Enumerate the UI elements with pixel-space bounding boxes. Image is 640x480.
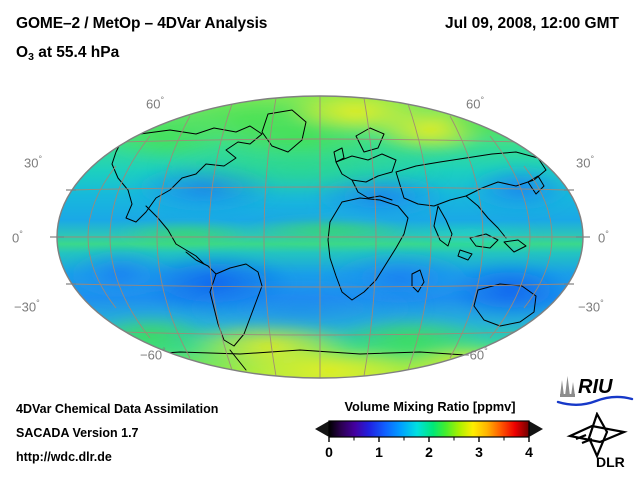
lat-label-30n-left: 30° [24,154,42,170]
colorbar-tick-3: 3 [475,444,483,460]
page-title: GOME–2 / MetOp – 4DVar Analysis [16,15,267,33]
ozone-field [50,88,595,392]
map-container: 60° 30° 0° −30° −60° 60° 30° 0° −30° −60… [0,78,640,394]
colorbar [313,419,545,443]
riu-tower-icon [560,376,575,397]
lat-label-30n-right: 30° [576,154,594,170]
footer-line-version: SACADA Version 1.7 [16,426,139,440]
colorbar-title: Volume Mixing Ratio [ppmv] [320,399,540,414]
lat-label-60n-left: 60° [146,95,164,111]
timestamp-label: Jul 09, 2008, 12:00 GMT [445,15,619,33]
lat-label-30s-left: −30° [14,298,40,314]
figure-canvas: GOME–2 / MetOp – 4DVar Analysis O3 at 55… [0,0,640,480]
colorbar-major-ticks [329,437,529,442]
species-symbol: O [16,44,28,61]
colorbar-min-arrow [315,421,329,437]
colorbar-tick-0: 0 [325,444,333,460]
page-subtitle: O3 at 55.4 hPa [16,44,119,62]
colorbar-tick-4: 4 [525,444,533,460]
dlr-emblem-icon [570,414,624,456]
colorbar-svg [313,419,545,443]
ozone-map [0,78,640,394]
footer-line-assimilation: 4DVar Chemical Data Assimilation [16,402,218,416]
lat-label-60n-right: 60° [466,95,484,111]
dlr-logo: DLR [566,412,632,470]
footer-line-url: http://wdc.dlr.de [16,450,112,464]
lat-label-60s-right: −60° [462,346,488,362]
riu-wordmark: RIU [578,376,613,398]
riu-logo: RIU [556,374,634,408]
lat-label-60s-left: −60° [140,346,166,362]
colorbar-max-arrow [529,421,543,437]
lat-label-0-right: 0° [598,229,609,245]
colorbar-tick-2: 2 [425,444,433,460]
lat-label-0-left: 0° [12,229,23,245]
colorbar-tick-1: 1 [375,444,383,460]
dlr-wordmark: DLR [596,454,625,470]
riu-swoosh-icon [558,397,632,405]
lat-label-30s-right: −30° [578,298,604,314]
pressure-level-label: at 55.4 hPa [34,44,119,61]
species-subscript: 3 [28,51,34,63]
colorbar-tick-labels: 0 1 2 3 4 [313,444,545,464]
